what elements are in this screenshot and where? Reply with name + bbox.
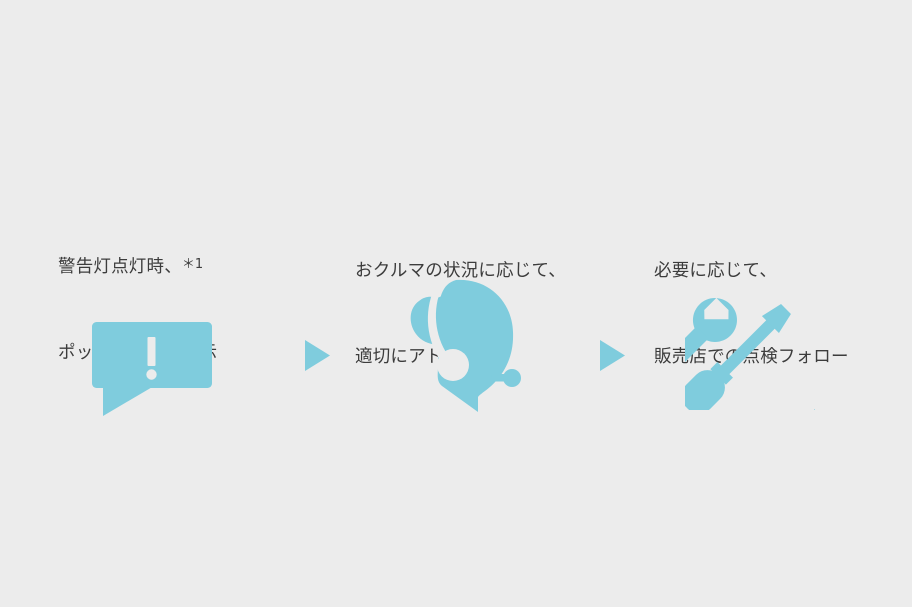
step-1-caption-text-1: 警告灯点灯時、 — [58, 257, 182, 277]
step-1-footnote-mark: ＊1 — [182, 257, 203, 272]
operator-headset-icon — [396, 278, 526, 413]
process-flow-infographic: 警告灯点灯時、＊1 ポップアップが表示 おクルマの状況に応じて、 適切にアドバイ… — [0, 0, 912, 607]
arrow-right-icon — [598, 339, 626, 372]
wrench-screwdriver-icon — [685, 292, 815, 410]
alert-popup-icon — [92, 322, 212, 418]
arrow-right-icon — [303, 339, 331, 372]
step-3-caption-line-1: 必要に応じて、 — [654, 257, 849, 286]
step-1-caption-line-1: 警告灯点灯時、＊1 — [58, 253, 217, 282]
